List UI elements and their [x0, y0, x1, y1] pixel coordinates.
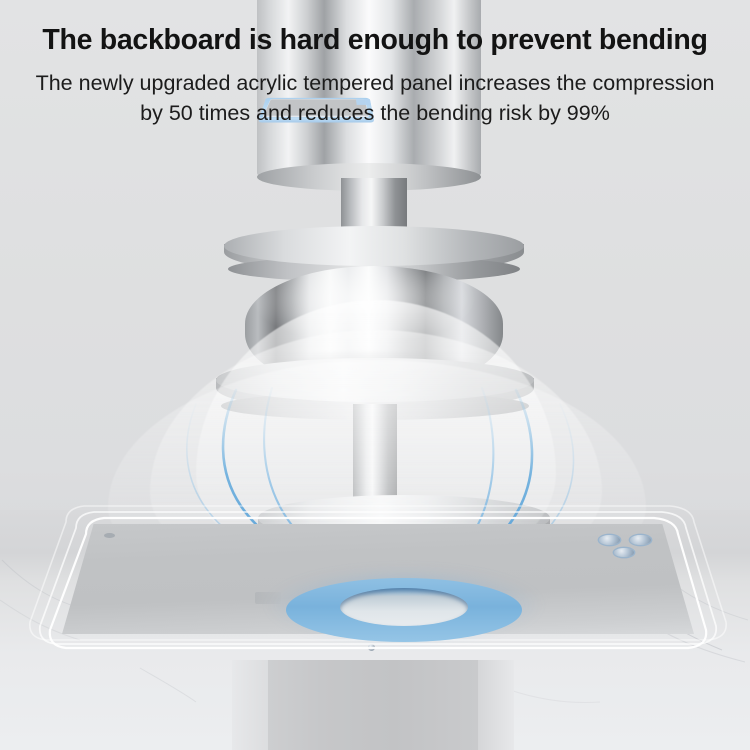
page-title: The backboard is hard enough to prevent …: [0, 24, 750, 57]
front-sensor-dot: [104, 533, 115, 538]
camera-lens-icon: [630, 535, 651, 545]
page-subtitle: The newly upgraded acrylic tempered pane…: [30, 68, 720, 128]
product-feature-image: The backboard is hard enough to prevent …: [0, 0, 750, 750]
camera-module: [596, 533, 672, 567]
camera-flash-icon: [614, 548, 634, 557]
pressure-ring-center: [340, 588, 468, 626]
side-button-dot: [368, 644, 375, 651]
camera-lens-icon: [599, 535, 620, 545]
text-overlay: The backboard is hard enough to prevent …: [0, 0, 750, 128]
